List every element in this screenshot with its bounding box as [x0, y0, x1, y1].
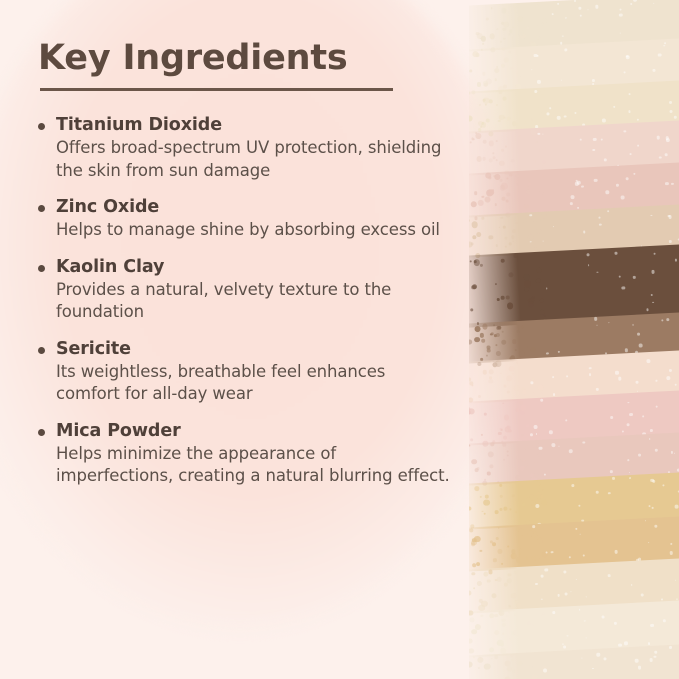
bullet-icon	[38, 347, 45, 354]
powder-speck	[642, 415, 644, 417]
powder-crumb	[531, 136, 534, 139]
powder-crumb	[527, 530, 533, 536]
powder-speck	[646, 359, 650, 363]
page-title: Key Ingredients	[38, 38, 348, 78]
powder-speck	[551, 443, 555, 447]
powder-crumb	[537, 106, 543, 112]
powder-speck	[650, 429, 653, 432]
powder-crumb	[475, 562, 480, 567]
powder-speck	[659, 156, 662, 159]
powder-crumb	[522, 503, 526, 507]
powder-crumb	[540, 90, 545, 95]
powder-speck	[571, 484, 574, 487]
powder-speck	[531, 382, 534, 385]
powder-crumb	[470, 242, 473, 245]
powder-speck	[629, 472, 630, 473]
powder-speck	[618, 643, 622, 647]
powder-crumb	[511, 494, 514, 497]
powder-speck	[592, 668, 593, 669]
powder-crumb	[520, 77, 524, 81]
powder-crumb	[495, 283, 497, 285]
powder-speck	[562, 35, 563, 36]
powder-crumb	[542, 18, 547, 23]
powder-crumb	[535, 5, 539, 9]
powder-crumb	[511, 593, 516, 598]
powder-speck	[592, 78, 595, 81]
powder-speck	[653, 69, 656, 72]
powder-speck	[587, 9, 588, 10]
powder-speck	[579, 609, 580, 610]
powder-crumb	[477, 667, 479, 669]
powder-speck	[595, 5, 598, 8]
powder-speck	[673, 115, 677, 119]
powder-crumb	[479, 104, 481, 106]
powder-crumb	[487, 472, 491, 476]
powder-crumb	[481, 338, 485, 342]
powder-crumb	[478, 200, 484, 206]
powder-speck	[675, 259, 677, 261]
powder-speck	[624, 641, 628, 645]
ingredients-list: Titanium Dioxide Offers broad-spectrum U…	[34, 114, 454, 502]
powder-speck	[628, 460, 629, 461]
powder-speck	[620, 32, 621, 33]
powder-speck	[648, 542, 649, 543]
powder-crumb	[495, 351, 500, 356]
ingredient-description: Helps to manage shine by absorbing exces…	[56, 219, 454, 242]
list-item: Kaolin Clay Provides a natural, velvety …	[34, 256, 454, 324]
powder-crumb	[516, 71, 522, 77]
powder-crumb	[501, 149, 504, 152]
powder-crumb	[494, 78, 497, 81]
powder-crumb	[500, 179, 503, 182]
powder-crumb	[518, 529, 524, 535]
powder-crumb	[526, 60, 531, 65]
powder-crumb	[516, 454, 522, 460]
powder-crumb	[512, 340, 517, 345]
powder-speck	[540, 575, 543, 578]
powder-crumb	[520, 405, 527, 412]
powder-crumb	[511, 159, 514, 162]
powder-speck	[537, 80, 541, 84]
powder-crumb	[489, 33, 495, 39]
powder-speck	[552, 611, 555, 614]
powder-speck	[596, 653, 600, 657]
powder-crumb	[497, 298, 500, 301]
list-item: Zinc Oxide Helps to manage shine by abso…	[34, 196, 454, 242]
powder-crumb	[476, 53, 480, 57]
powder-crumb	[506, 450, 508, 452]
powder-crumb	[542, 489, 544, 491]
powder-crumb	[496, 140, 498, 142]
powder-crumb	[508, 611, 510, 613]
powder-speck	[532, 525, 534, 527]
powder-crumb	[522, 664, 528, 670]
powder-crumb	[531, 219, 534, 222]
powder-crumb	[474, 337, 480, 343]
powder-crumb	[474, 191, 478, 195]
powder-speck	[637, 391, 638, 392]
powder-speck	[541, 598, 542, 599]
powder-speck	[629, 93, 631, 95]
powder-crumb	[473, 259, 480, 266]
powder-speck	[596, 324, 597, 325]
powder-crumb	[495, 655, 499, 659]
powder-crumb	[472, 572, 476, 576]
powder-speck	[670, 543, 672, 545]
powder-crumb	[499, 184, 505, 190]
ingredient-description: Helps minimize the appearance of imperfe…	[56, 443, 454, 488]
powder-speck	[610, 470, 612, 472]
powder-crumb	[533, 622, 537, 626]
powder-crumb	[509, 366, 514, 371]
powder-crumb	[471, 540, 477, 546]
powder-crumb	[493, 559, 496, 562]
powder-crumb	[513, 5, 516, 8]
powder-speck	[570, 591, 571, 592]
powder-speck	[625, 55, 629, 59]
powder-speck	[567, 635, 569, 637]
powder-crumb	[474, 486, 479, 491]
powder-speck	[650, 624, 654, 628]
powder-speck	[656, 380, 657, 381]
powder-crumb	[537, 385, 543, 391]
powder-crumb	[495, 68, 500, 73]
powder-speck	[637, 333, 640, 336]
powder-crumb	[523, 274, 530, 281]
powder-speck	[635, 381, 638, 384]
powder-speck	[594, 317, 597, 320]
powder-crumb	[500, 41, 502, 43]
powder-crumb	[515, 600, 518, 603]
powder-speck	[652, 302, 653, 303]
powder-speck	[552, 376, 554, 378]
powder-speck	[564, 592, 567, 595]
powder-crumb	[496, 159, 498, 161]
powder-speck	[544, 473, 546, 475]
powder-crumb	[504, 58, 509, 63]
powder-crumb	[473, 138, 475, 140]
powder-crumb	[541, 213, 546, 218]
powder-speck	[651, 270, 654, 273]
powder-speck	[608, 574, 611, 577]
powder-crumb	[521, 56, 524, 59]
powder-speck	[557, 2, 559, 4]
powder-crumb	[502, 443, 506, 447]
powder-crumb	[542, 402, 545, 405]
powder-speck	[669, 646, 671, 648]
powder-speck	[656, 135, 660, 139]
powder-crumb	[537, 36, 541, 40]
powder-crumb	[516, 183, 519, 186]
powder-speck	[675, 579, 676, 580]
powder-crumb	[535, 75, 539, 79]
powder-speck	[553, 393, 555, 395]
powder-crumb	[491, 443, 495, 447]
powder-crumb	[516, 557, 522, 563]
powder-speck	[599, 223, 601, 225]
powder-crumb	[483, 97, 490, 104]
bullet-icon	[38, 265, 45, 272]
powder-speck	[531, 69, 532, 70]
powder-crumb	[470, 438, 473, 441]
list-item: Sericite Its weightless, breathable feel…	[34, 338, 454, 406]
powder-crumb	[484, 495, 488, 499]
powder-crumb	[508, 272, 513, 277]
powder-speck	[654, 655, 656, 657]
powder-crumb	[482, 43, 484, 45]
powder-speck	[533, 54, 537, 58]
powder-crumb	[526, 52, 530, 56]
powder-crumb	[502, 402, 504, 404]
powder-crumb	[482, 217, 485, 220]
powder-speck	[649, 658, 652, 661]
powder-crumb	[542, 612, 544, 614]
powder-speck	[606, 190, 610, 194]
powder-speck	[603, 657, 606, 660]
powder-crumb	[534, 461, 537, 464]
powder-swatch-artwork	[469, 0, 679, 679]
powder-crumb	[480, 614, 483, 617]
powder-speck	[649, 438, 650, 439]
powder-crumb	[518, 30, 524, 36]
powder-crumb	[537, 494, 541, 498]
powder-crumb	[525, 122, 528, 125]
powder-speck	[665, 136, 669, 140]
powder-speck	[621, 286, 625, 290]
powder-crumb	[501, 196, 505, 200]
powder-speck	[610, 416, 613, 419]
powder-crumb	[537, 538, 543, 544]
powder-crumb	[505, 245, 507, 247]
powder-speck	[615, 252, 618, 255]
powder-crumb	[490, 540, 493, 543]
powder-speck	[615, 371, 618, 374]
powder-speck	[536, 433, 537, 434]
powder-crumb	[507, 303, 514, 310]
powder-speck	[639, 343, 643, 347]
powder-crumb	[494, 203, 496, 205]
powder-crumb	[485, 17, 488, 20]
powder-speck	[652, 479, 655, 482]
powder-speck	[596, 491, 599, 494]
powder-crumb	[536, 268, 540, 272]
powder-crumb	[515, 571, 517, 573]
powder-speck	[534, 425, 538, 429]
powder-speck	[566, 375, 568, 377]
ingredient-name: Titanium Dioxide	[56, 114, 454, 136]
ingredient-name: Sericite	[56, 338, 454, 360]
powder-crumb	[484, 663, 491, 670]
powder-speck	[654, 525, 657, 528]
powder-speck	[542, 240, 543, 241]
powder-speck	[661, 598, 663, 600]
powder-crumb	[528, 603, 531, 606]
powder-crumb	[501, 8, 507, 14]
powder-speck	[633, 276, 636, 279]
powder-speck	[549, 431, 553, 435]
powder-crumb	[543, 381, 549, 387]
powder-speck	[629, 413, 632, 416]
powder-speck	[594, 178, 598, 182]
powder-speck	[534, 90, 537, 93]
powder-crumb	[504, 117, 506, 119]
powder-crumb	[475, 132, 477, 134]
powder-speck	[613, 621, 616, 624]
powder-speck	[654, 651, 657, 654]
powder-crumb	[488, 189, 494, 195]
bullet-icon	[38, 429, 45, 436]
powder-speck	[664, 42, 666, 44]
ingredient-description: Its weightless, breathable feel enhances…	[56, 361, 454, 406]
powder-speck	[557, 594, 560, 597]
powder-crumb	[524, 590, 528, 594]
powder-speck	[674, 504, 678, 508]
powder-speck	[665, 153, 668, 156]
powder-crumb	[495, 244, 498, 247]
ingredient-description: Offers broad-spectrum UV protection, shi…	[56, 137, 454, 182]
powder-crumb	[539, 309, 544, 314]
powder-crumb	[480, 434, 482, 436]
ingredient-name: Zinc Oxide	[56, 196, 454, 218]
powder-speck	[661, 319, 663, 321]
powder-crumb	[500, 259, 504, 263]
powder-speck	[652, 507, 654, 509]
powder-crumb	[503, 507, 507, 511]
powder-crumb	[539, 514, 541, 516]
ingredient-name: Mica Powder	[56, 420, 454, 442]
powder-speck	[635, 659, 639, 663]
powder-crumb	[531, 674, 537, 679]
powder-crumb	[482, 324, 488, 330]
powder-crumb	[519, 484, 523, 488]
ingredient-name: Kaolin Clay	[56, 256, 454, 278]
powder-crumb	[502, 632, 504, 634]
powder-crumb	[511, 659, 513, 661]
powder-crumb	[528, 301, 534, 307]
powder-crumb	[498, 431, 502, 435]
powder-crumb	[519, 466, 524, 471]
powder-speck	[630, 153, 632, 155]
powder-crumb	[489, 647, 494, 652]
powder-crumb	[534, 247, 537, 250]
powder-crumb	[528, 183, 531, 186]
powder-speck	[538, 133, 540, 135]
bullet-icon	[38, 205, 45, 212]
powder-speck	[563, 645, 566, 648]
powder-crumb	[470, 308, 473, 311]
powder-crumb	[500, 296, 504, 300]
powder-crumb	[528, 639, 530, 641]
powder-speck	[545, 568, 549, 572]
powder-speck	[584, 620, 585, 621]
powder-crumb	[540, 585, 543, 588]
powder-crumb	[482, 72, 486, 76]
powder-speck	[626, 423, 629, 426]
powder-speck	[575, 182, 579, 186]
powder-speck	[540, 398, 543, 401]
powder-crumb	[482, 370, 486, 374]
powder-crumb	[510, 508, 512, 510]
powder-crumb	[492, 542, 496, 546]
ingredient-description: Provides a natural, velvety texture to t…	[56, 279, 454, 324]
powder-speck	[599, 217, 601, 219]
powder-crumb	[504, 661, 510, 667]
powder-crumb	[509, 243, 511, 245]
powder-crumb	[513, 385, 519, 391]
powder-crumb	[480, 550, 482, 552]
powder-speck	[583, 554, 585, 556]
powder-crumb	[515, 173, 519, 177]
powder-crumb	[530, 495, 534, 499]
powder-speck	[545, 551, 547, 553]
powder-crumb	[476, 232, 481, 237]
powder-crumb	[517, 16, 523, 22]
powder-crumb	[504, 236, 507, 239]
powder-crumb	[482, 510, 484, 512]
ingredients-page: Key Ingredients Titanium Dioxide Offers …	[0, 0, 679, 679]
powder-speck	[586, 596, 587, 597]
title-underline	[40, 88, 393, 91]
powder-speck	[549, 108, 551, 110]
powder-crumb	[530, 129, 536, 135]
powder-crumb	[505, 146, 507, 148]
powder-crumb	[497, 549, 502, 554]
powder-crumb	[513, 254, 517, 258]
powder-speck	[631, 584, 632, 585]
powder-crumb	[478, 395, 481, 398]
powder-crumb	[487, 349, 491, 353]
powder-crumb	[496, 537, 499, 540]
powder-crumb	[471, 221, 477, 227]
powder-crumb	[544, 315, 546, 317]
powder-crumb	[526, 26, 529, 29]
powder-speck	[535, 583, 538, 586]
powder-crumb	[511, 235, 514, 238]
powder-crumb	[524, 281, 531, 288]
powder-crumb	[526, 189, 531, 194]
powder-crumb	[476, 156, 482, 162]
powder-speck	[579, 534, 580, 535]
powder-crumb	[521, 217, 526, 222]
powder-crumb	[500, 63, 504, 67]
powder-crumb	[501, 622, 505, 626]
list-item: Mica Powder Helps minimize the appearanc…	[34, 420, 454, 488]
bullet-icon	[38, 123, 45, 130]
powder-speck	[588, 264, 590, 266]
content-column: Key Ingredients Titanium Dioxide Offers …	[0, 0, 470, 679]
powder-crumb	[515, 408, 519, 412]
powder-crumb	[518, 134, 520, 136]
list-item: Titanium Dioxide Offers broad-spectrum U…	[34, 114, 454, 182]
powder-speck	[621, 195, 625, 199]
